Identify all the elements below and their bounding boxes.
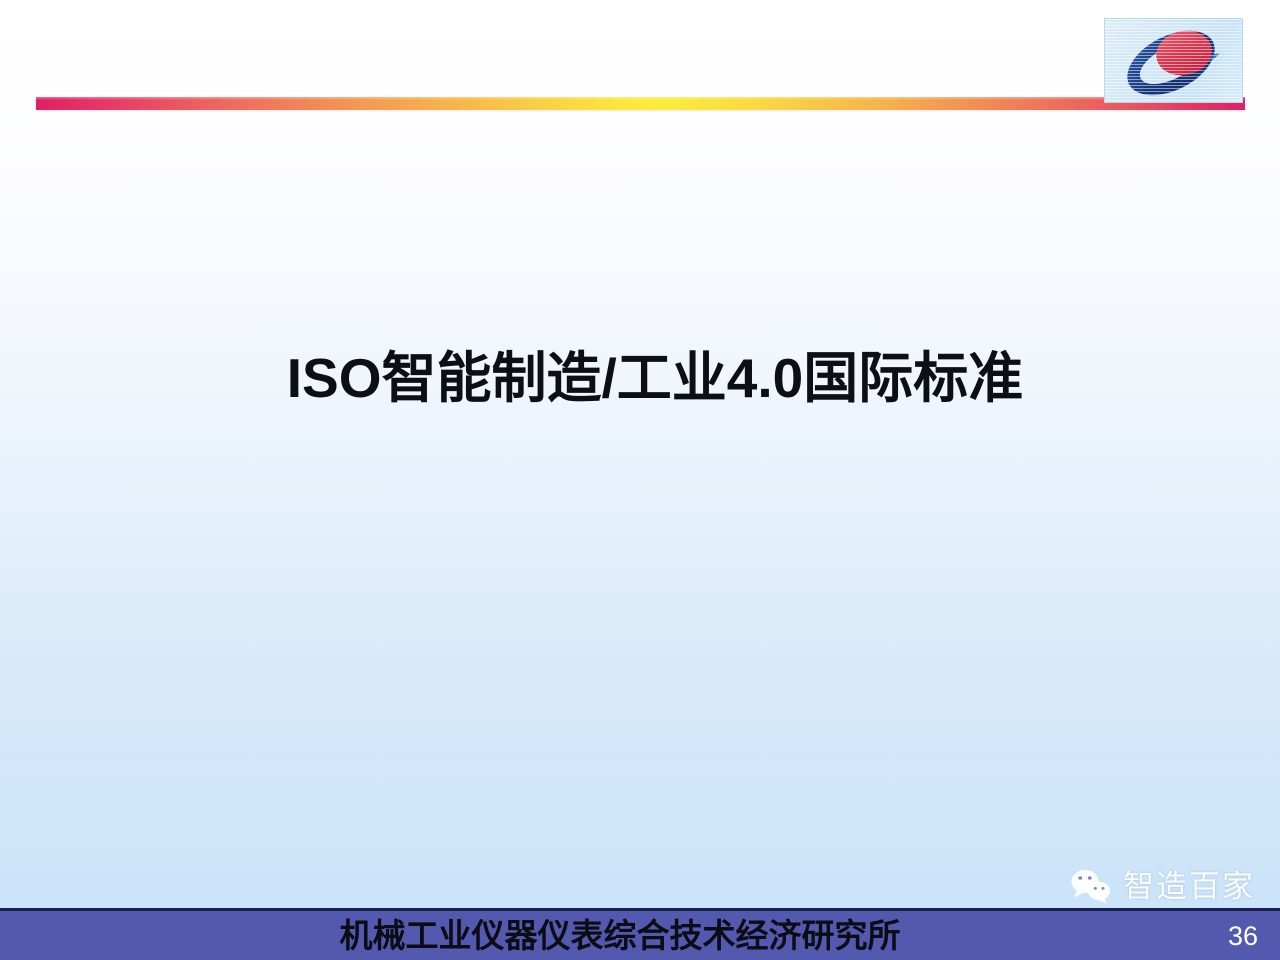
slide-header	[0, 0, 1280, 120]
presentation-slide: ISO智能制造/工业4.0国际标准	[0, 0, 1280, 960]
wechat-icon	[1070, 868, 1114, 904]
header-gradient-rule	[36, 97, 1245, 110]
wechat-watermark: 智造百家	[1070, 868, 1255, 904]
slide-title-block: ISO智能制造/工业4.0国际标准	[0, 348, 1280, 409]
page-number: 36	[1228, 923, 1258, 950]
page-title: ISO智能制造/工业4.0国际标准	[287, 348, 1024, 409]
slide-footer: 机械工业仪器仪表综合技术经济研究所 36	[0, 908, 1280, 960]
organization-logo	[1104, 18, 1243, 103]
footer-organization-name: 机械工业仪器仪表综合技术经济研究所	[0, 911, 1280, 960]
watermark-account-name: 智造百家	[1123, 871, 1255, 902]
logo-graphic	[1105, 19, 1242, 102]
